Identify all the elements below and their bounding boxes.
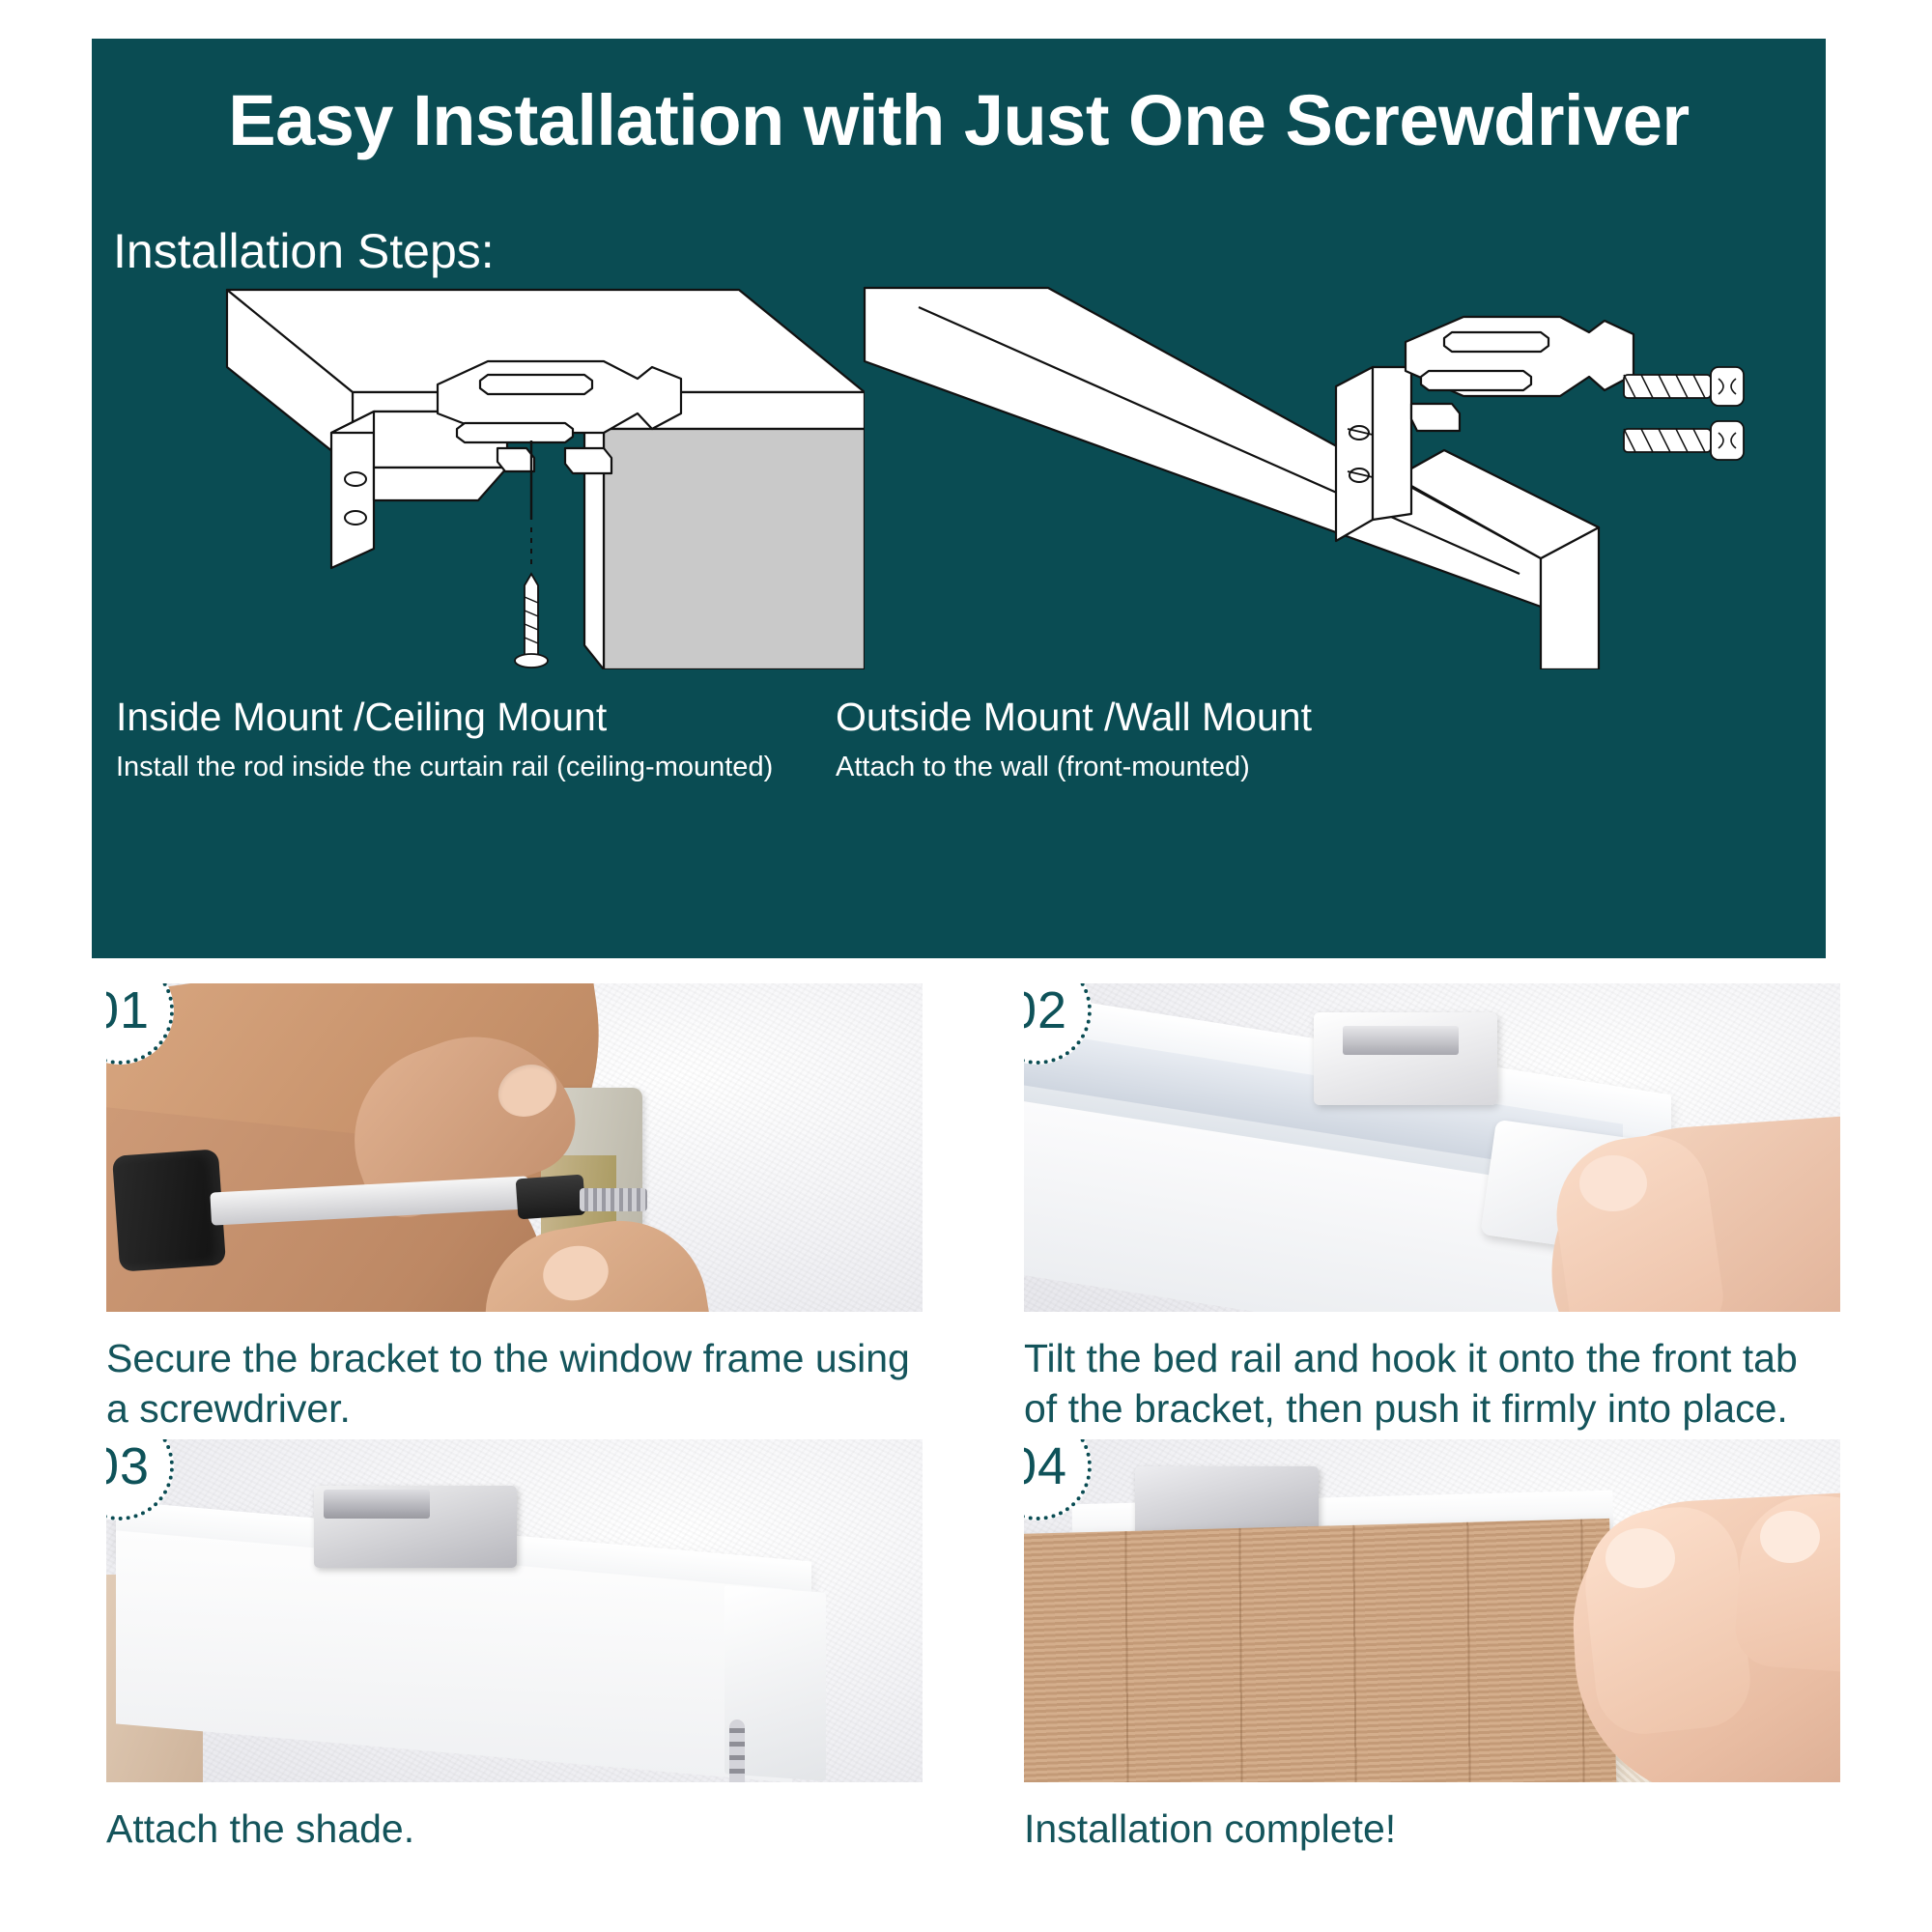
inside-mount-caption: Inside Mount /Ceiling Mount Install the … — [116, 696, 918, 783]
outside-mount-linework-icon — [826, 278, 1821, 669]
step-02-photo: 02 — [1024, 983, 1840, 1312]
index-finger — [1577, 1501, 1754, 1738]
installation-infographic: Easy Installation with Just One Screwdri… — [0, 0, 1932, 1932]
wall-screw-icon-1 — [1624, 367, 1744, 406]
steps-grid: 01 Secure the bracket to the window fram… — [0, 966, 1932, 1932]
outside-mount-description: Attach to the wall (front-mounted) — [836, 752, 1705, 783]
hero-panel: Easy Installation with Just One Screwdri… — [92, 39, 1826, 958]
step-04: 04 Installation complete! — [1024, 1439, 1840, 1854]
bracket-metal-tab — [324, 1490, 430, 1519]
installation-steps-subtitle: Installation Steps: — [113, 227, 495, 275]
wall-screw-icon-2 — [1624, 421, 1744, 460]
step-03: 03 Attach the shade. — [106, 1439, 923, 1854]
step-03-caption: Attach the shade. — [106, 1804, 923, 1854]
inside-mount-diagram — [198, 278, 865, 669]
step-number-01: 01 — [106, 984, 150, 1037]
step-01-photo: 01 — [106, 983, 923, 1312]
step-number-03: 03 — [106, 1440, 150, 1492]
inside-mount-label: Inside Mount /Ceiling Mount — [116, 696, 918, 740]
outside-mount-diagram — [826, 278, 1821, 669]
screwdriver-handle-icon — [112, 1149, 226, 1271]
step-01: 01 Secure the bracket to the window fram… — [106, 983, 923, 1435]
bracket-metal-tab — [1343, 1026, 1459, 1055]
screw-icon — [580, 1188, 647, 1211]
outside-mount-label: Outside Mount /Wall Mount — [836, 696, 1705, 740]
screwdriver-tip — [516, 1175, 586, 1220]
outside-mount-caption: Outside Mount /Wall Mount Attach to the … — [836, 696, 1705, 783]
fingernail — [1579, 1155, 1647, 1211]
step-04-photo: 04 — [1024, 1439, 1840, 1782]
fingernail-middle — [1760, 1511, 1820, 1563]
woven-shade — [1024, 1519, 1617, 1782]
step-04-caption: Installation complete! — [1024, 1804, 1840, 1854]
step-number-04: 04 — [1024, 1440, 1067, 1492]
step-02-caption: Tilt the bed rail and hook it onto the f… — [1024, 1333, 1840, 1435]
step-number-02: 02 — [1024, 984, 1067, 1037]
step-02: 02 Tilt the bed rail and hook it onto th… — [1024, 983, 1840, 1435]
fingernail-index — [1605, 1528, 1675, 1588]
page-title: Easy Installation with Just One Screwdri… — [130, 85, 1787, 156]
step-01-caption: Secure the bracket to the window frame u… — [106, 1333, 923, 1435]
bead-chain-icon — [729, 1719, 745, 1782]
inside-mount-description: Install the rod inside the curtain rail … — [116, 752, 918, 783]
step-03-photo: 03 — [106, 1439, 923, 1782]
inside-mount-linework-icon — [198, 278, 865, 669]
